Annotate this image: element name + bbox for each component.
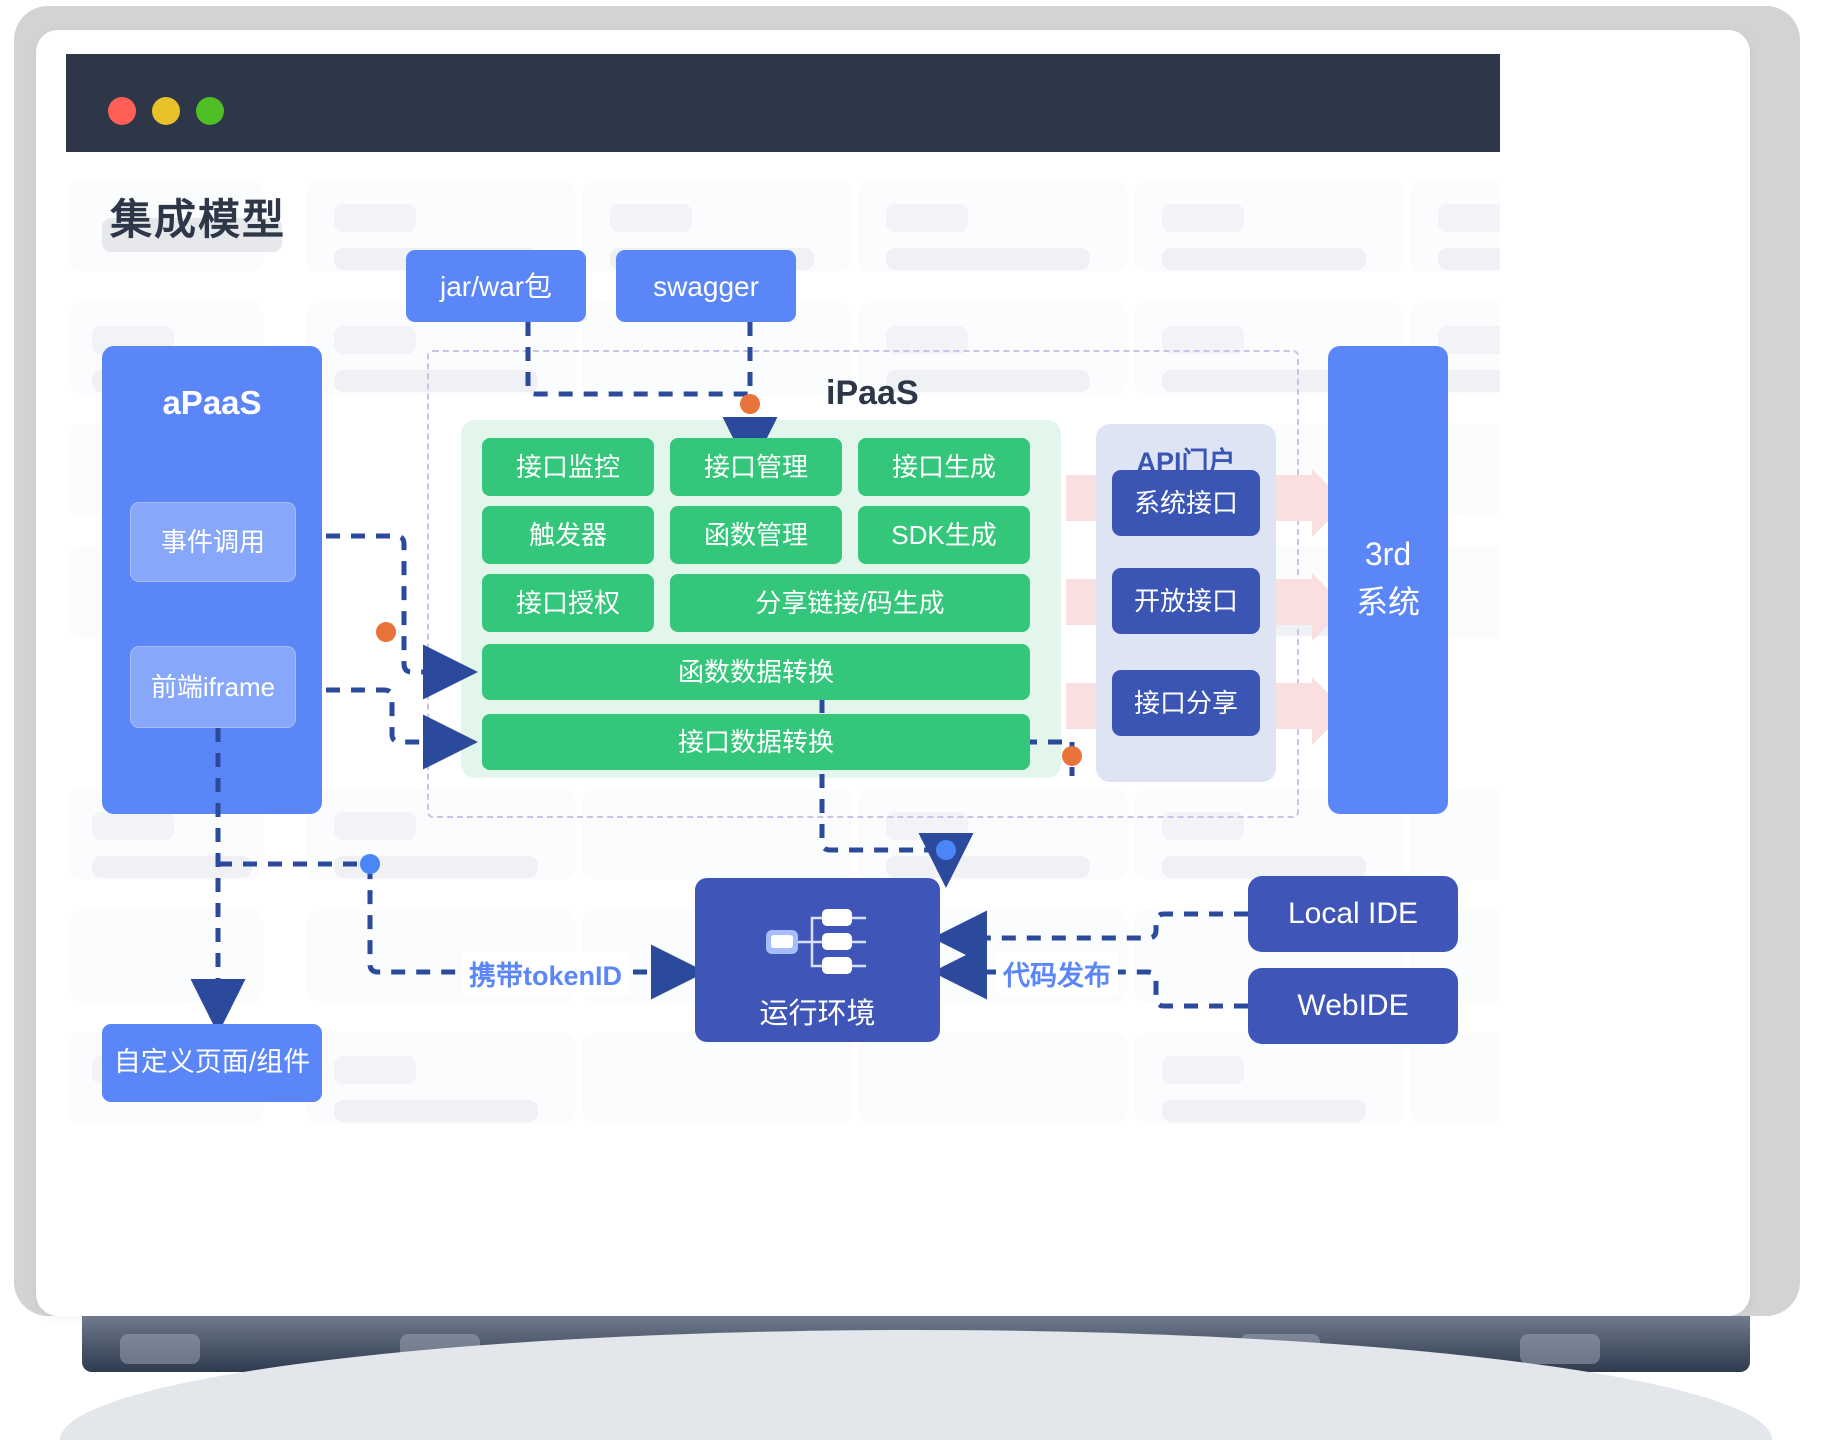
apaas-title: aPaaS [102, 384, 322, 422]
skeleton-chip [334, 1056, 416, 1084]
node-label: 前端iframe [151, 671, 275, 704]
node-label: 接口授权 [516, 587, 620, 620]
node-label: 系统接口 [1134, 487, 1238, 520]
skeleton-chip [1438, 326, 1500, 354]
third-party-line1: 3rd [1328, 530, 1448, 578]
node-api-data-transform[interactable]: 接口数据转换 [482, 714, 1030, 770]
node-label: 接口管理 [704, 451, 808, 484]
node-share-link[interactable]: 分享链接/码生成 [670, 574, 1030, 632]
node-event-call[interactable]: 事件调用 [130, 502, 296, 582]
node-jar-war[interactable]: jar/war包 [406, 250, 586, 322]
window-titlebar [66, 54, 1500, 152]
base-notch [120, 1334, 200, 1364]
node-label: WebIDE [1297, 987, 1408, 1025]
skeleton-chip [334, 812, 416, 840]
skeleton-card [582, 1032, 852, 1124]
skeleton-bar [334, 1100, 538, 1122]
skeleton-bar [1162, 856, 1366, 878]
node-label: 事件调用 [161, 526, 265, 559]
node-api-share[interactable]: 接口分享 [1112, 670, 1260, 736]
node-label: 接口生成 [892, 451, 996, 484]
third-party-line2: 系统 [1328, 578, 1448, 626]
skeleton-card [68, 910, 264, 1002]
skeleton-chip [334, 204, 416, 232]
skeleton-card [1410, 1032, 1500, 1124]
node-custom-page[interactable]: 自定义页面/组件 [102, 1024, 322, 1102]
flow-tree-icon [756, 900, 876, 984]
node-api-manage[interactable]: 接口管理 [670, 438, 842, 496]
wire-source-dot [376, 622, 396, 642]
maximize-button[interactable] [196, 97, 224, 125]
skeleton-chip [334, 326, 416, 354]
node-label: 接口数据转换 [678, 726, 834, 759]
node-api-generate[interactable]: 接口生成 [858, 438, 1030, 496]
edge-label-token: 携带tokenID [462, 952, 629, 995]
skeleton-bar [92, 856, 252, 878]
node-label: 开放接口 [1134, 585, 1238, 618]
base-notch [1520, 1334, 1600, 1364]
node-func-data-transform[interactable]: 函数数据转换 [482, 644, 1030, 700]
node-sdk-generate[interactable]: SDK生成 [858, 506, 1030, 564]
node-label: Local IDE [1288, 895, 1418, 933]
node-label: SDK生成 [891, 519, 996, 552]
ipaas-title: iPaaS [826, 374, 919, 413]
page-canvas: 集成模型 iPaaS API门户 [66, 152, 1500, 1262]
node-label: 函数数据转换 [678, 656, 834, 689]
skeleton-chip [1162, 204, 1244, 232]
node-local-ide[interactable]: Local IDE [1248, 876, 1458, 952]
skeleton-bar [1162, 1100, 1366, 1122]
node-label: jar/war包 [440, 269, 552, 304]
node-label: 接口监控 [516, 451, 620, 484]
skeleton-chip [1162, 1056, 1244, 1084]
skeleton-chip [886, 204, 968, 232]
node-api-monitor[interactable]: 接口监控 [482, 438, 654, 496]
api-portal-title: API门户 [1096, 440, 1276, 479]
node-label: 触发器 [529, 519, 607, 552]
skeleton-bar [886, 248, 1090, 270]
minimize-button[interactable] [152, 97, 180, 125]
skeleton-bar [1438, 248, 1500, 270]
skeleton-bar [886, 856, 1090, 878]
page-title: 集成模型 [110, 186, 286, 247]
skeleton-chip [610, 204, 692, 232]
node-label: 分享链接/码生成 [755, 587, 944, 620]
skeleton-chip [92, 812, 174, 840]
edge-label-publish: 代码发布 [996, 952, 1118, 995]
skeleton-card [858, 1032, 1128, 1124]
node-system-api[interactable]: 系统接口 [1112, 470, 1260, 536]
third-party-label: 3rd 系统 [1328, 530, 1448, 626]
node-open-api[interactable]: 开放接口 [1112, 568, 1260, 634]
node-web-ide[interactable]: WebIDE [1248, 968, 1458, 1044]
node-trigger[interactable]: 触发器 [482, 506, 654, 564]
node-label: 自定义页面/组件 [114, 1046, 311, 1080]
skeleton-bar [1162, 248, 1366, 270]
node-api-auth[interactable]: 接口授权 [482, 574, 654, 632]
node-label: swagger [653, 269, 759, 304]
node-label: 函数管理 [704, 519, 808, 552]
skeleton-chip [1438, 204, 1500, 232]
node-front-iframe[interactable]: 前端iframe [130, 646, 296, 728]
node-label: 接口分享 [1134, 687, 1238, 720]
runtime-label: 运行环境 [695, 990, 940, 1032]
skeleton-bar [334, 856, 538, 878]
node-func-manage[interactable]: 函数管理 [670, 506, 842, 564]
close-button[interactable] [108, 97, 136, 125]
node-swagger[interactable]: swagger [616, 250, 796, 322]
